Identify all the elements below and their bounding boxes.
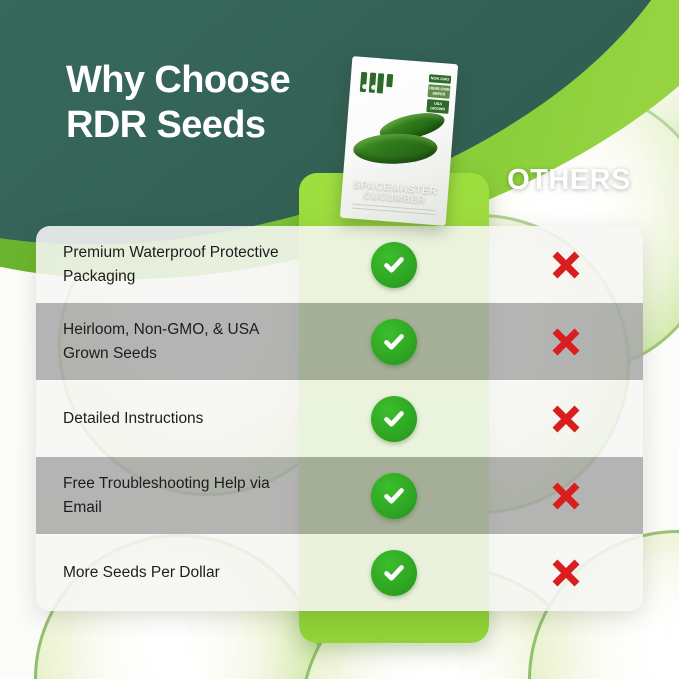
rdr-cell bbox=[299, 457, 489, 534]
check-icon bbox=[371, 473, 417, 519]
check-icon bbox=[371, 242, 417, 288]
badge-heirloom: HEIRLOOM SEEDS bbox=[428, 85, 451, 100]
others-cell bbox=[489, 457, 643, 534]
rdr-seeds-check-column bbox=[299, 226, 489, 611]
page-title: Why Choose RDR Seeds bbox=[66, 58, 366, 148]
others-column-header: OTHERS bbox=[499, 164, 639, 197]
cross-icon bbox=[549, 402, 583, 436]
badge-usa-grown: USA GROWN bbox=[426, 100, 449, 115]
feature-label: More Seeds Per Dollar bbox=[36, 561, 304, 585]
check-icon bbox=[371, 319, 417, 365]
feature-label: Premium Waterproof Protective Packaging bbox=[36, 241, 304, 288]
seed-packet-image: NON GMO HEIRLOOM SEEDS USA GROWN SPACEMA… bbox=[340, 56, 458, 226]
cross-icon bbox=[549, 479, 583, 513]
check-icon bbox=[371, 550, 417, 596]
page-title-line-1: Why Choose bbox=[66, 58, 366, 103]
check-icon bbox=[371, 396, 417, 442]
cross-icon bbox=[549, 248, 583, 282]
cucumber-photo bbox=[349, 108, 448, 179]
others-cell bbox=[489, 380, 643, 457]
others-cell bbox=[489, 534, 643, 611]
rdr-cell bbox=[299, 534, 489, 611]
rdr-cell bbox=[299, 226, 489, 303]
others-cell bbox=[489, 303, 643, 380]
feature-label: Free Troubleshooting Help via Email bbox=[36, 472, 304, 519]
page-title-line-2: RDR Seeds bbox=[66, 103, 366, 148]
badge-non-gmo: NON GMO bbox=[429, 74, 452, 84]
others-cell bbox=[489, 226, 643, 303]
feature-label: Heirloom, Non-GMO, & USA Grown Seeds bbox=[36, 318, 304, 365]
cross-icon bbox=[549, 556, 583, 590]
rdr-cell bbox=[299, 303, 489, 380]
cross-icon bbox=[549, 325, 583, 359]
feature-label: Detailed Instructions bbox=[36, 407, 304, 431]
infographic-canvas: Why Choose RDR Seeds OTHERS Premium Wate… bbox=[0, 0, 679, 679]
rdr-logo-icon bbox=[360, 72, 393, 94]
rdr-cell bbox=[299, 380, 489, 457]
packet-badges: NON GMO HEIRLOOM SEEDS USA GROWN bbox=[426, 74, 451, 114]
others-cross-column bbox=[489, 226, 643, 611]
